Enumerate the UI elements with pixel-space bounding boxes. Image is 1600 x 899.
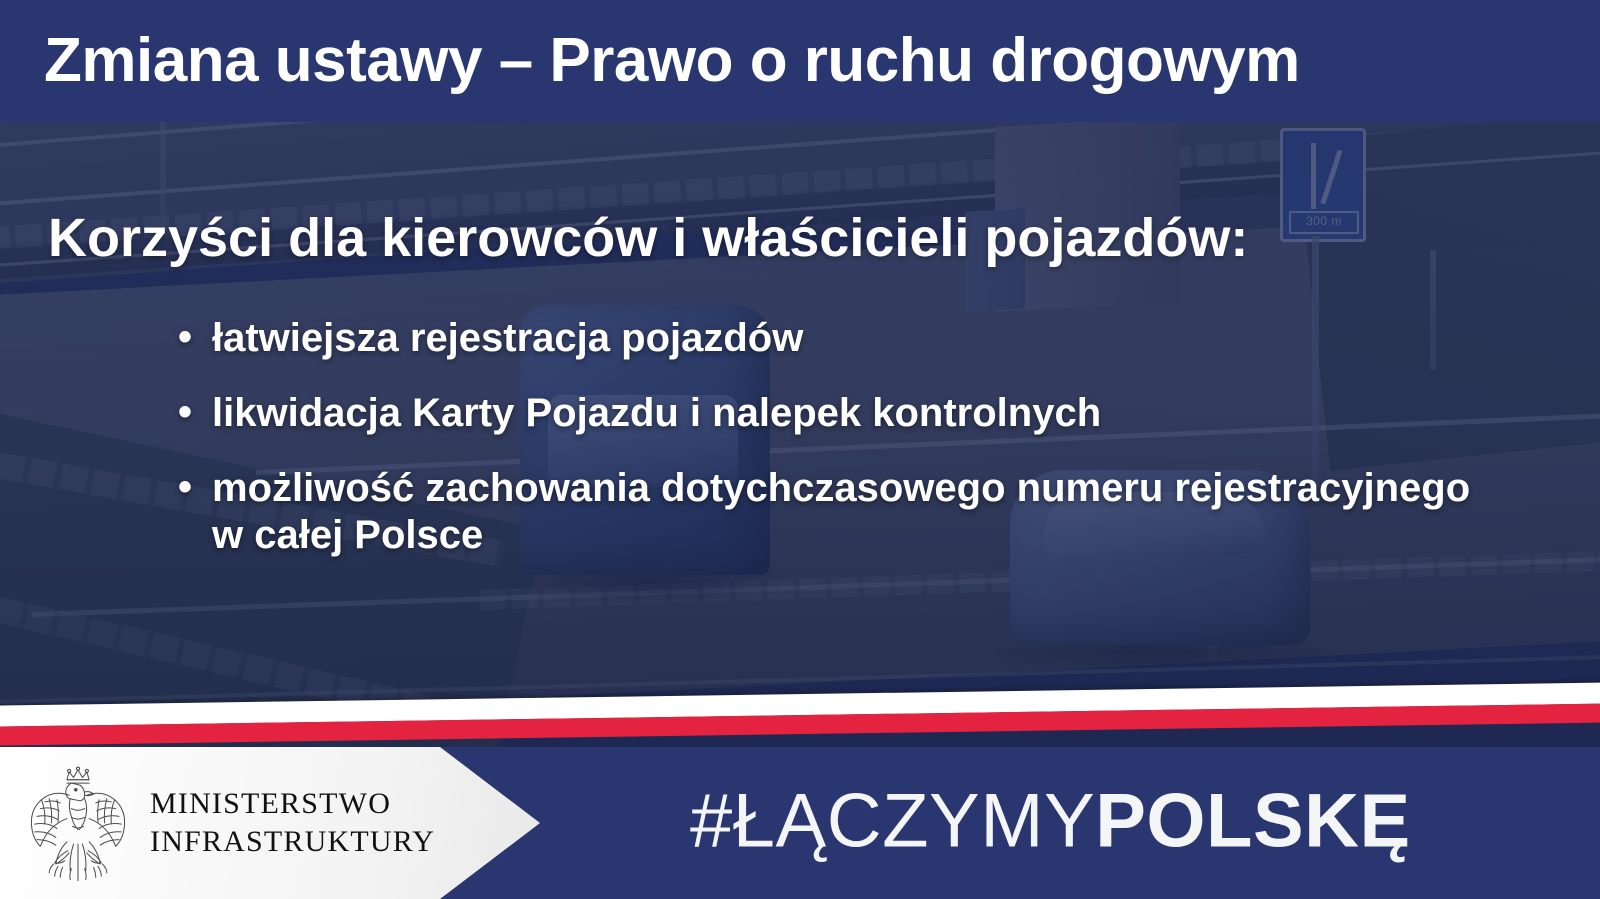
list-item: likwidacja Karty Pojazdu i nalepek kontr… xyxy=(178,390,1512,437)
campaign-hashtag: #ŁĄCZYMYPOLSKĘ xyxy=(690,783,1411,859)
ministry-name: MINISTERSTWO INFRASTRUKTURY xyxy=(150,785,435,862)
ministry-line-2: INFRASTRUKTURY xyxy=(150,823,435,861)
footer-bar: MINISTERSTWO INFRASTRUKTURY #ŁĄCZYMYPOLS… xyxy=(0,747,1600,899)
subheading: Korzyści dla kierowców i właścicieli poj… xyxy=(0,122,1600,267)
ministry-line-1: MINISTERSTWO xyxy=(150,785,435,823)
ministry-badge: MINISTERSTWO INFRASTRUKTURY xyxy=(0,747,540,899)
hashtag-bold-part: POLSKĘ xyxy=(1095,778,1411,863)
polish-eagle-emblem-icon xyxy=(22,762,134,884)
list-item: łatwiejsza rejestracja pojazdów xyxy=(178,315,1512,362)
benefits-list: łatwiejsza rejestracja pojazdów likwidac… xyxy=(0,267,1600,560)
title-bar: Zmiana ustawy – Prawo o ruchu drogowym xyxy=(0,0,1600,122)
hashtag-light-part: #ŁĄCZYMY xyxy=(690,778,1095,863)
main-content: Korzyści dla kierowców i właścicieli poj… xyxy=(0,122,1600,587)
poster-root: 300 m Zmiana ustawy – Prawo o ruchu drog… xyxy=(0,0,1600,899)
page-title: Zmiana ustawy – Prawo o ruchu drogowym xyxy=(0,30,1300,92)
list-item: możliwość zachowania dotychczasowego num… xyxy=(178,465,1512,559)
